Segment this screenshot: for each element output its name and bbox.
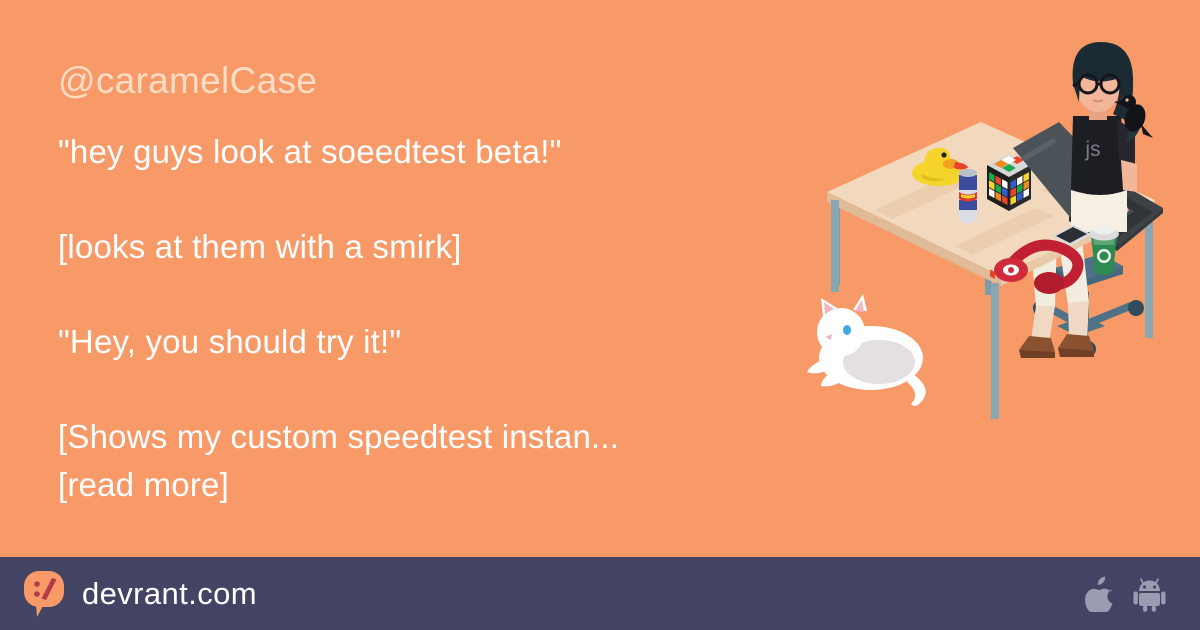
post-line: "Hey, you should try it!" bbox=[58, 318, 818, 366]
shirt-logo-text: js bbox=[1084, 138, 1100, 161]
footer-bar: devrant.com bbox=[0, 557, 1200, 630]
post-line-blank bbox=[58, 176, 818, 223]
post-line: [looks at them with a smirk] bbox=[58, 223, 818, 271]
energy-drink-can-icon bbox=[959, 169, 977, 223]
brand-name-text[interactable]: devrant.com bbox=[82, 576, 257, 612]
cat-icon bbox=[807, 294, 926, 406]
devrant-post-card: @caramelCase "hey guys look at soeedtest… bbox=[0, 0, 1200, 630]
post-line-blank bbox=[58, 366, 818, 413]
post-line: [Shows my custom speedtest instan... bbox=[58, 413, 818, 461]
isometric-developer-illustration: js bbox=[805, 40, 1185, 460]
store-icons bbox=[1085, 576, 1176, 612]
post-text: "hey guys look at soeedtest beta!" [look… bbox=[58, 128, 818, 509]
brand-block[interactable]: devrant.com bbox=[24, 571, 257, 617]
devrant-speech-bubble-icon bbox=[24, 571, 66, 617]
post-line-blank bbox=[58, 271, 818, 318]
apple-icon[interactable] bbox=[1085, 576, 1115, 612]
post-username[interactable]: @caramelCase bbox=[58, 58, 818, 104]
android-icon[interactable] bbox=[1133, 576, 1166, 612]
post-line: "hey guys look at soeedtest beta!" bbox=[58, 128, 818, 176]
read-more-link[interactable]: [read more] bbox=[58, 461, 818, 509]
post-content: @caramelCase "hey guys look at soeedtest… bbox=[58, 58, 818, 509]
